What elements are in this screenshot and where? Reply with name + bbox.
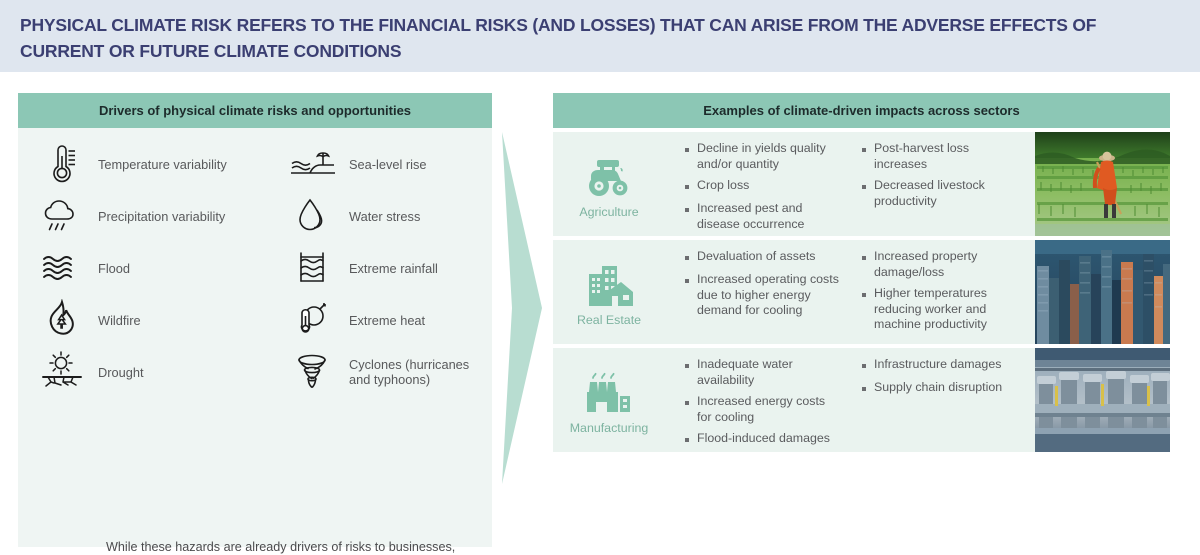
sector-label: Manufacturing [570, 421, 649, 435]
list-item-text: Inadequate water availability [697, 357, 840, 388]
list-item-text: Crop loss [697, 178, 749, 195]
bullet-column-right: Increased property damage/loss Higher te… [850, 249, 1035, 344]
sea-level-rise-icon [285, 139, 341, 189]
bullet-marker-icon [862, 178, 874, 209]
impact-bullets: Decline in yields quality and/or quantit… [665, 132, 1035, 236]
extreme-heat-icon [285, 295, 341, 345]
driver-item-flood[interactable]: Flood [18, 242, 255, 294]
drivers-panel: Drivers of physical climate risks and op… [18, 93, 492, 547]
table-row: Agriculture Decline in yields quality an… [553, 132, 1170, 236]
driver-item-sea-level-rise[interactable]: Sea-level rise [255, 138, 492, 190]
bullet-marker-icon [685, 272, 697, 319]
bullet-marker-icon [862, 249, 874, 280]
buildings-icon [583, 262, 635, 308]
list-item-text: Decline in yields quality and/or quantit… [697, 141, 840, 172]
driver-label: Extreme rainfall [341, 261, 438, 276]
thermometer-icon [34, 139, 90, 189]
driver-item-precipitation-variability[interactable]: Precipitation variability [18, 190, 255, 242]
industrial-machinery-photo [1035, 348, 1170, 452]
list-item-text: Increased pest and disease occurrence [697, 201, 840, 232]
impact-bullets: Inadequate water availability Increased … [665, 348, 1035, 452]
list-item: Increased operating costs due to higher … [685, 272, 840, 319]
flood-waves-icon [34, 243, 90, 293]
bullet-marker-icon [685, 178, 697, 195]
sector-identity: Agriculture [553, 132, 665, 236]
list-item-text: Supply chain disruption [874, 380, 1002, 397]
bullet-marker-icon [685, 394, 697, 425]
title-banner: PHYSICAL CLIMATE RISK REFERS TO THE FINA… [0, 0, 1200, 72]
bullet-marker-icon [685, 141, 697, 172]
bullet-column-right: Post-harvest loss increases Decreased li… [850, 141, 1035, 236]
bullet-marker-icon [685, 201, 697, 232]
bullet-marker-icon [685, 357, 697, 388]
sector-label: Real Estate [577, 313, 641, 327]
list-item-text: Devaluation of assets [697, 249, 815, 266]
list-item: Decline in yields quality and/or quantit… [685, 141, 840, 172]
sector-impacts-header: Examples of climate-driven impacts acros… [553, 93, 1170, 128]
sector-impacts-panel: Examples of climate-driven impacts acros… [553, 93, 1170, 459]
slide-root: PHYSICAL CLIMATE RISK REFERS TO THE FINA… [0, 0, 1200, 555]
list-item: Infrastructure damages [862, 357, 1025, 374]
bullet-marker-icon [862, 286, 874, 333]
wildfire-icon [34, 295, 90, 345]
driver-label: Sea-level rise [341, 157, 427, 172]
list-item: Increased pest and disease occurrence [685, 201, 840, 232]
list-item: Increased energy costs for cooling [685, 394, 840, 425]
list-item-text: Infrastructure damages [874, 357, 1001, 374]
drivers-grid: Temperature variability Sea-level rise [18, 138, 492, 398]
drought-icon [34, 347, 90, 397]
driver-item-wildfire[interactable]: Wildfire [18, 294, 255, 346]
list-item: Higher temperatures reducing worker and … [862, 286, 1025, 333]
cyclone-icon [285, 347, 341, 397]
list-item: Flood-induced damages [685, 431, 840, 448]
drivers-note: While these hazards are already drivers … [106, 539, 498, 555]
list-item-text: Higher temperatures reducing worker and … [874, 286, 1025, 333]
list-item-text: Flood-induced damages [697, 431, 830, 448]
driver-item-water-stress[interactable]: Water stress [255, 190, 492, 242]
driver-item-temperature-variability[interactable]: Temperature variability [18, 138, 255, 190]
list-item: Increased property damage/loss [862, 249, 1025, 280]
extreme-rainfall-icon [285, 243, 341, 293]
bullet-marker-icon [862, 357, 874, 374]
impact-bullets: Devaluation of assets Increased operatin… [665, 240, 1035, 344]
bullet-column-left: Decline in yields quality and/or quantit… [665, 141, 850, 236]
driver-label: Precipitation variability [90, 209, 225, 224]
bullet-marker-icon [685, 431, 697, 448]
sector-identity: Manufacturing [553, 348, 665, 452]
list-item-text: Increased energy costs for cooling [697, 394, 840, 425]
bullet-column-right: Infrastructure damages Supply chain disr… [850, 357, 1035, 452]
drivers-panel-header-label: Drivers of physical climate risks and op… [99, 103, 411, 118]
driver-label: Wildfire [90, 313, 141, 328]
driver-item-extreme-heat[interactable]: Extreme heat [255, 294, 492, 346]
driver-label: Flood [90, 261, 130, 276]
bullet-marker-icon [862, 141, 874, 172]
list-item: Decreased livestock productivity [862, 178, 1025, 209]
drivers-note-part1: While these hazards are already drivers … [106, 540, 470, 555]
list-item-text: Increased property damage/loss [874, 249, 1025, 280]
page-title: PHYSICAL CLIMATE RISK REFERS TO THE FINA… [20, 12, 1178, 64]
sector-impacts-header-label: Examples of climate-driven impacts acros… [703, 103, 1019, 118]
bullet-marker-icon [862, 380, 874, 397]
list-item: Devaluation of assets [685, 249, 840, 266]
driver-label: Water stress [341, 209, 420, 224]
sector-label: Agriculture [579, 205, 638, 219]
table-row: Real Estate Devaluation of assets Increa… [553, 240, 1170, 344]
list-item: Crop loss [685, 178, 840, 195]
list-item: Inadequate water availability [685, 357, 840, 388]
driver-label: Drought [90, 365, 144, 380]
driver-label: Temperature variability [90, 157, 227, 172]
driver-item-drought[interactable]: Drought [18, 346, 255, 398]
list-item: Supply chain disruption [862, 380, 1025, 397]
tractor-icon [583, 154, 635, 200]
bullet-marker-icon [685, 249, 697, 266]
bullet-column-left: Devaluation of assets Increased operatin… [665, 249, 850, 344]
driver-label: Extreme heat [341, 313, 425, 328]
bullet-column-left: Inadequate water availability Increased … [665, 357, 850, 452]
drivers-panel-header: Drivers of physical climate risks and op… [18, 93, 492, 128]
rain-cloud-icon [34, 191, 90, 241]
sector-identity: Real Estate [553, 240, 665, 344]
table-row: Manufacturing Inadequate water availabil… [553, 348, 1170, 452]
flow-arrow [498, 132, 544, 484]
list-item: Post-harvest loss increases [862, 141, 1025, 172]
rice-field-farmer-photo [1035, 132, 1170, 236]
list-item-text: Decreased livestock productivity [874, 178, 1025, 209]
city-skyline-photo [1035, 240, 1170, 344]
list-item-text: Post-harvest loss increases [874, 141, 1025, 172]
driver-item-extreme-rainfall[interactable]: Extreme rainfall [255, 242, 492, 294]
driver-item-cyclones[interactable]: Cyclones (hurricanes and typhoons) [255, 346, 492, 398]
driver-label: Cyclones (hurricanes and typhoons) [341, 357, 492, 387]
factory-icon [582, 370, 636, 416]
list-item-text: Increased operating costs due to higher … [697, 272, 840, 319]
water-drop-icon [285, 191, 341, 241]
